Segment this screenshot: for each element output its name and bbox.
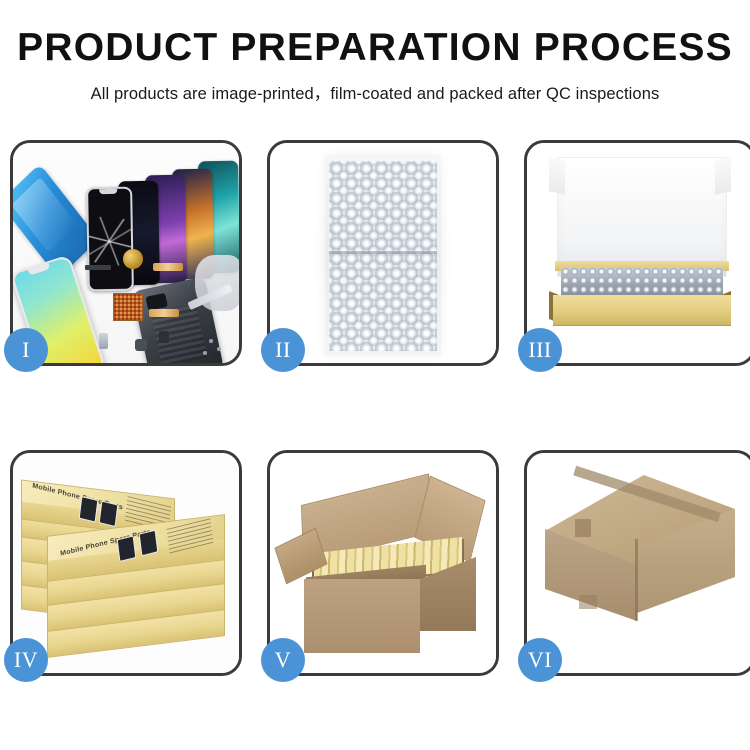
part-chip-icon <box>159 331 169 343</box>
box-contents-bubble-wrap <box>561 267 723 297</box>
part-copper-grid-icon <box>113 293 143 321</box>
part-screw-2-icon <box>217 347 221 351</box>
page-title: PRODUCT PREPARATION PROCESS <box>0 28 750 69</box>
process-steps-grid: I II III <box>10 140 740 676</box>
spare-parts-group <box>13 143 239 363</box>
part-coil-icon <box>123 249 143 269</box>
step-card-4[interactable]: Mobile Phone Spare Parts Mobile Phone Sp… <box>10 450 242 676</box>
page-subtitle: All products are image-printed，film-coat… <box>0 80 750 104</box>
bubble-pattern-icon <box>561 267 723 297</box>
box-lid-ear-right <box>715 157 731 194</box>
step-card-2[interactable]: II <box>267 140 499 366</box>
bubble-sheet-fold <box>329 251 437 254</box>
bubble-pattern-overlay-icon <box>329 161 437 351</box>
part-screw-3-icon <box>203 351 207 355</box>
step-badge-2: II <box>261 328 305 372</box>
carton-tape-patch-top <box>575 519 591 537</box>
carton-tape-patch-bottom <box>579 595 597 609</box>
part-battery-icon <box>99 333 108 349</box>
step-badge-4: IV <box>4 638 48 682</box>
step-badge-6: VI <box>518 638 562 682</box>
box-stack: Mobile Phone Spare Parts Mobile Phone Sp… <box>17 467 239 667</box>
step-badge-5: V <box>261 638 305 682</box>
part-flex-cable-2-icon <box>149 309 179 317</box>
step-image-6 <box>527 453 750 673</box>
step-image-1 <box>13 143 239 363</box>
part-flex-cable-icon <box>153 263 183 271</box>
box-tray-front <box>553 295 731 326</box>
step-image-2 <box>270 143 496 363</box>
page-header: PRODUCT PREPARATION PROCESS All products… <box>0 0 750 104</box>
step-image-4: Mobile Phone Spare Parts Mobile Phone Sp… <box>13 453 239 673</box>
step-card-6[interactable]: VI <box>524 450 750 676</box>
bubble-wrap-pouch <box>325 155 441 355</box>
step-card-5[interactable]: V <box>267 450 499 676</box>
box-lid-ear-left <box>549 157 565 194</box>
box-screen-thumb-1 <box>79 496 99 523</box>
carton-front-face <box>304 579 420 653</box>
step-card-1[interactable]: I <box>10 140 242 366</box>
part-camera-icon <box>135 339 147 351</box>
step-badge-3: III <box>518 328 562 372</box>
box-lid-flap <box>557 157 727 277</box>
box-screen-thumb-2 <box>99 500 119 527</box>
step-badge-1: I <box>4 328 48 372</box>
part-screw-icon <box>209 339 213 343</box>
box-screen-thumb-2 <box>139 530 159 557</box>
step-image-3 <box>527 143 750 363</box>
carton-vertical-edge <box>635 539 638 621</box>
step-image-5 <box>270 453 496 673</box>
part-strip-icon <box>85 265 111 270</box>
box-screen-thumb-1 <box>117 535 137 562</box>
step-card-3[interactable]: III <box>524 140 750 366</box>
